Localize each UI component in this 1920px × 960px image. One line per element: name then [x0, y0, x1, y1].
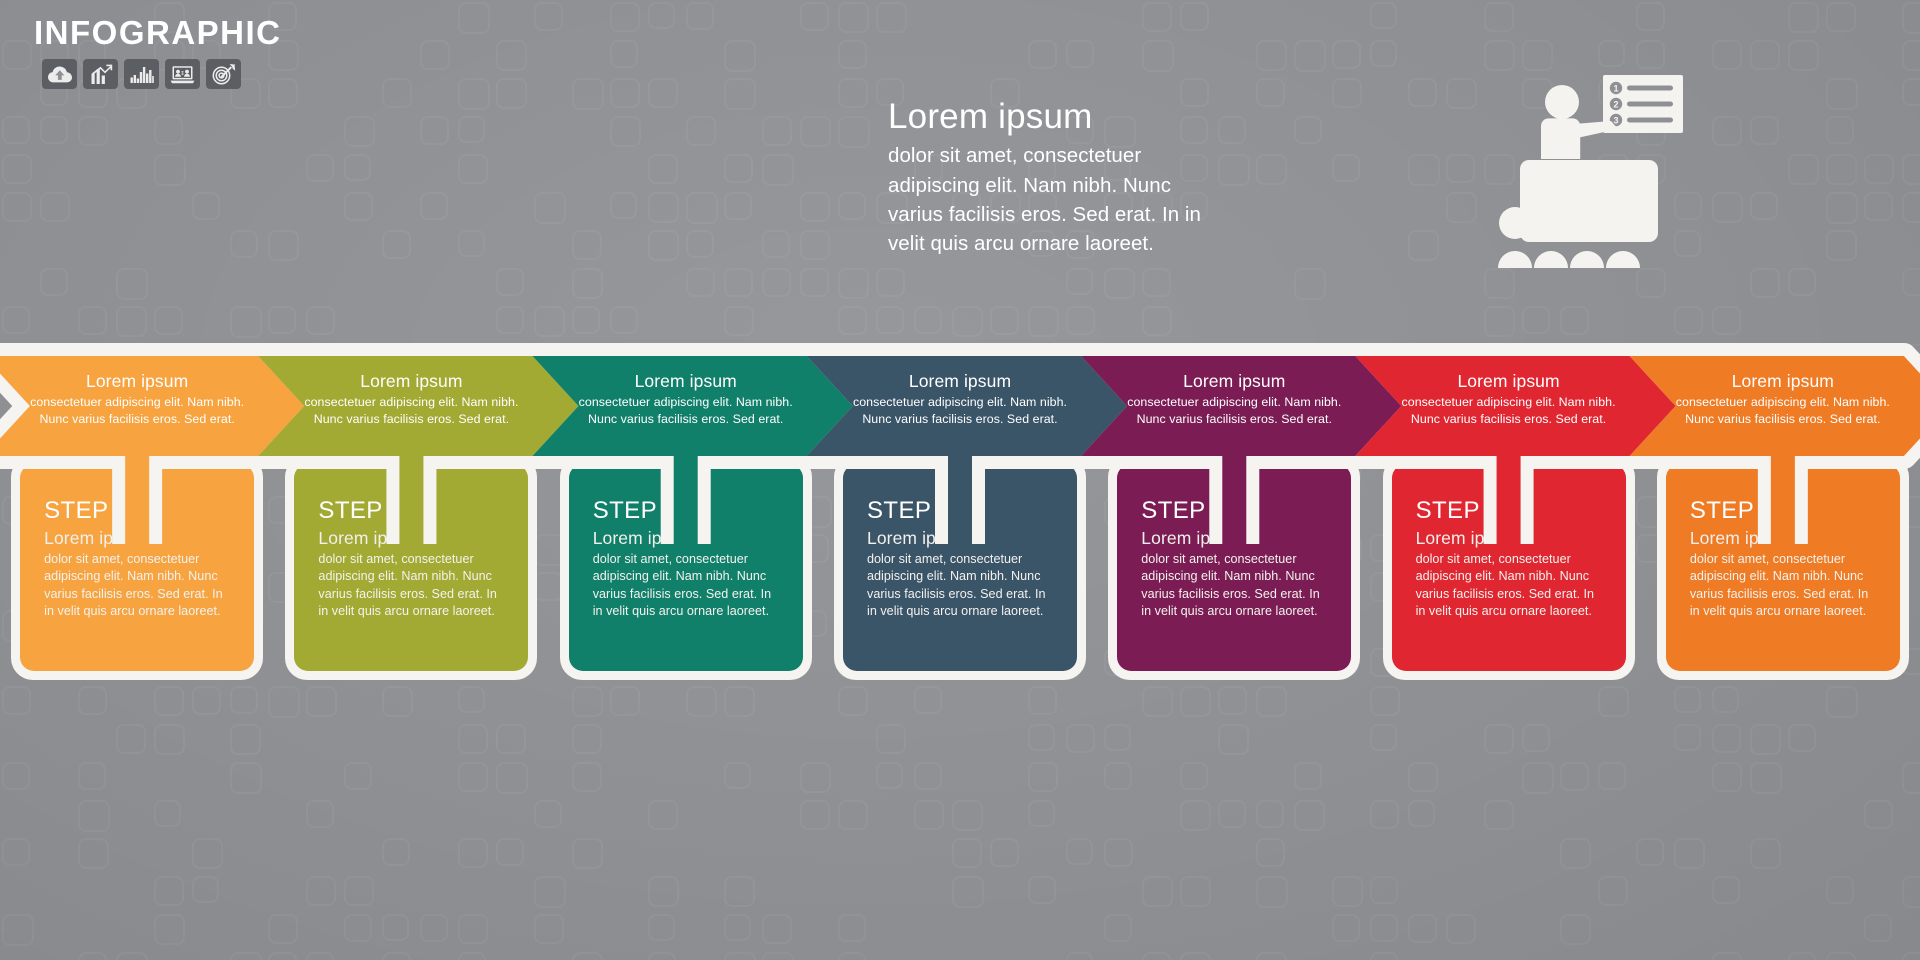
- timeline-arrow-band: [0, 312, 1920, 652]
- page-title: INFOGRAPHIC: [34, 16, 282, 49]
- presentation-screen-icon[interactable]: [165, 59, 200, 89]
- board-graphic: 1 2 3: [1603, 75, 1683, 133]
- timeline-connector-5: [1222, 444, 1246, 544]
- timeline-connector-6: [1497, 444, 1521, 544]
- timeline-arrow-6: [1355, 356, 1675, 456]
- timeline-arrow-3: [532, 356, 852, 456]
- timeline-connector-7: [1771, 444, 1795, 544]
- header-body: dolor sit amet, consectetuer adipiscing …: [888, 141, 1228, 258]
- header-text-block: Lorem ipsum dolor sit amet, consectetuer…: [888, 96, 1228, 259]
- infographic-canvas: INFOGRAPHIC: [0, 0, 1920, 960]
- bar-chart-icon[interactable]: [124, 59, 159, 89]
- timeline-connector-3: [674, 444, 698, 544]
- timeline-arrow-4: [807, 356, 1127, 456]
- presenter-illustration: 1 2 3: [1485, 72, 1685, 272]
- header-title: Lorem ipsum: [888, 96, 1228, 137]
- timeline-arrow-5: [1081, 356, 1401, 456]
- cloud-upload-icon[interactable]: [42, 59, 77, 89]
- brand-block: INFOGRAPHIC: [34, 16, 282, 89]
- timeline-connector-4: [948, 444, 972, 544]
- svg-text:2: 2: [1613, 100, 1618, 110]
- svg-text:3: 3: [1613, 116, 1618, 126]
- target-arrow-icon[interactable]: [206, 59, 241, 89]
- timeline-connector-2: [399, 444, 423, 544]
- timeline-connector-1: [125, 444, 149, 544]
- growth-chart-icon[interactable]: [83, 59, 118, 89]
- timeline-arrow-2: [258, 356, 578, 456]
- svg-text:1: 1: [1613, 84, 1618, 94]
- timeline-arrow-1: [0, 356, 304, 456]
- brand-icon-row: [42, 59, 282, 89]
